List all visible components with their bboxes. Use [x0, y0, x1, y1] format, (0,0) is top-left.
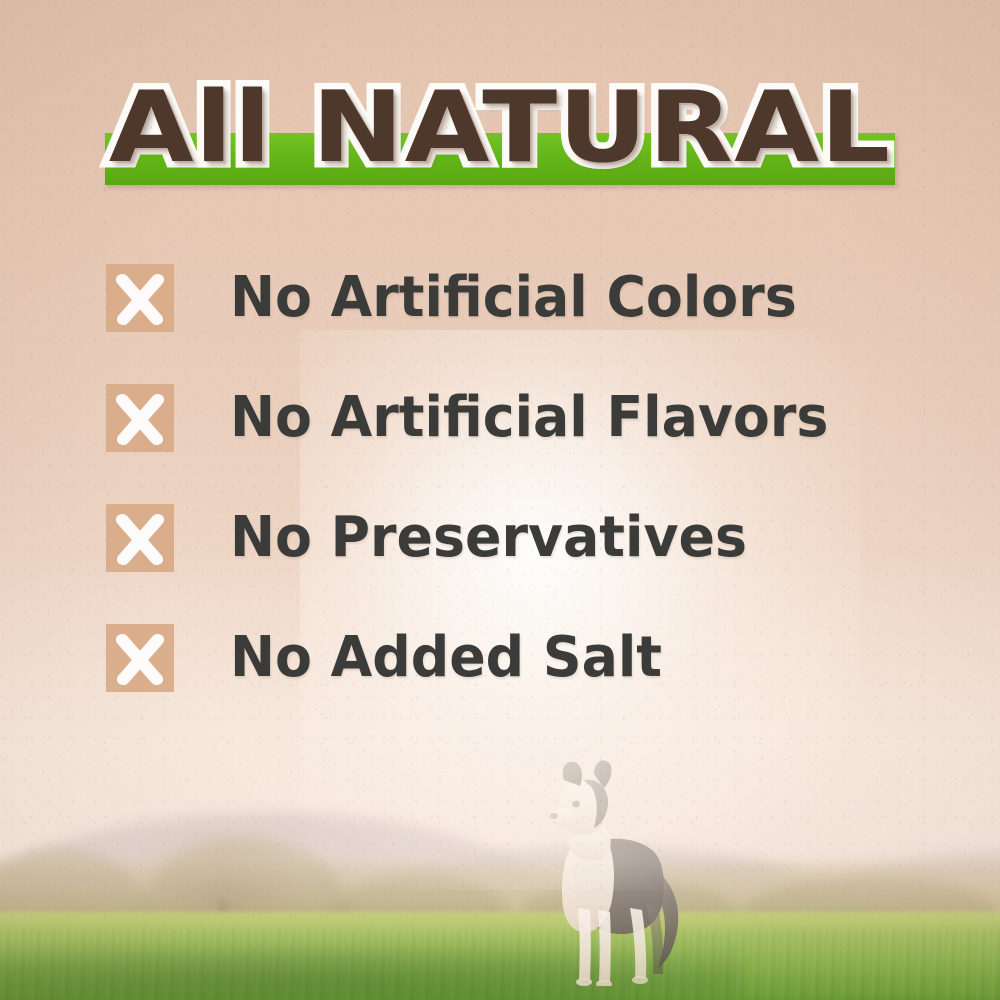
list-item-label: No Artificial Flavors [230, 384, 828, 452]
list-item-label: No Preservatives [230, 504, 747, 572]
x-mark-icon [106, 264, 174, 332]
product-feature-graphic: All NATURAL No Artificial Colors No Arti… [0, 0, 1000, 1000]
list-item: No Added Salt [106, 624, 926, 692]
x-mark-icon [106, 384, 174, 452]
x-mark-icon [106, 504, 174, 572]
page-title: All NATURAL [0, 74, 1000, 182]
list-item: No Artificial Colors [106, 264, 926, 332]
list-item-label: No Added Salt [230, 624, 662, 692]
feature-list: No Artificial Colors No Artificial Flavo… [106, 264, 926, 744]
list-item-label: No Artificial Colors [230, 264, 797, 332]
list-item: No Preservatives [106, 504, 926, 572]
list-item: No Artificial Flavors [106, 384, 926, 452]
x-mark-icon [106, 624, 174, 692]
dog-photo [536, 758, 696, 986]
